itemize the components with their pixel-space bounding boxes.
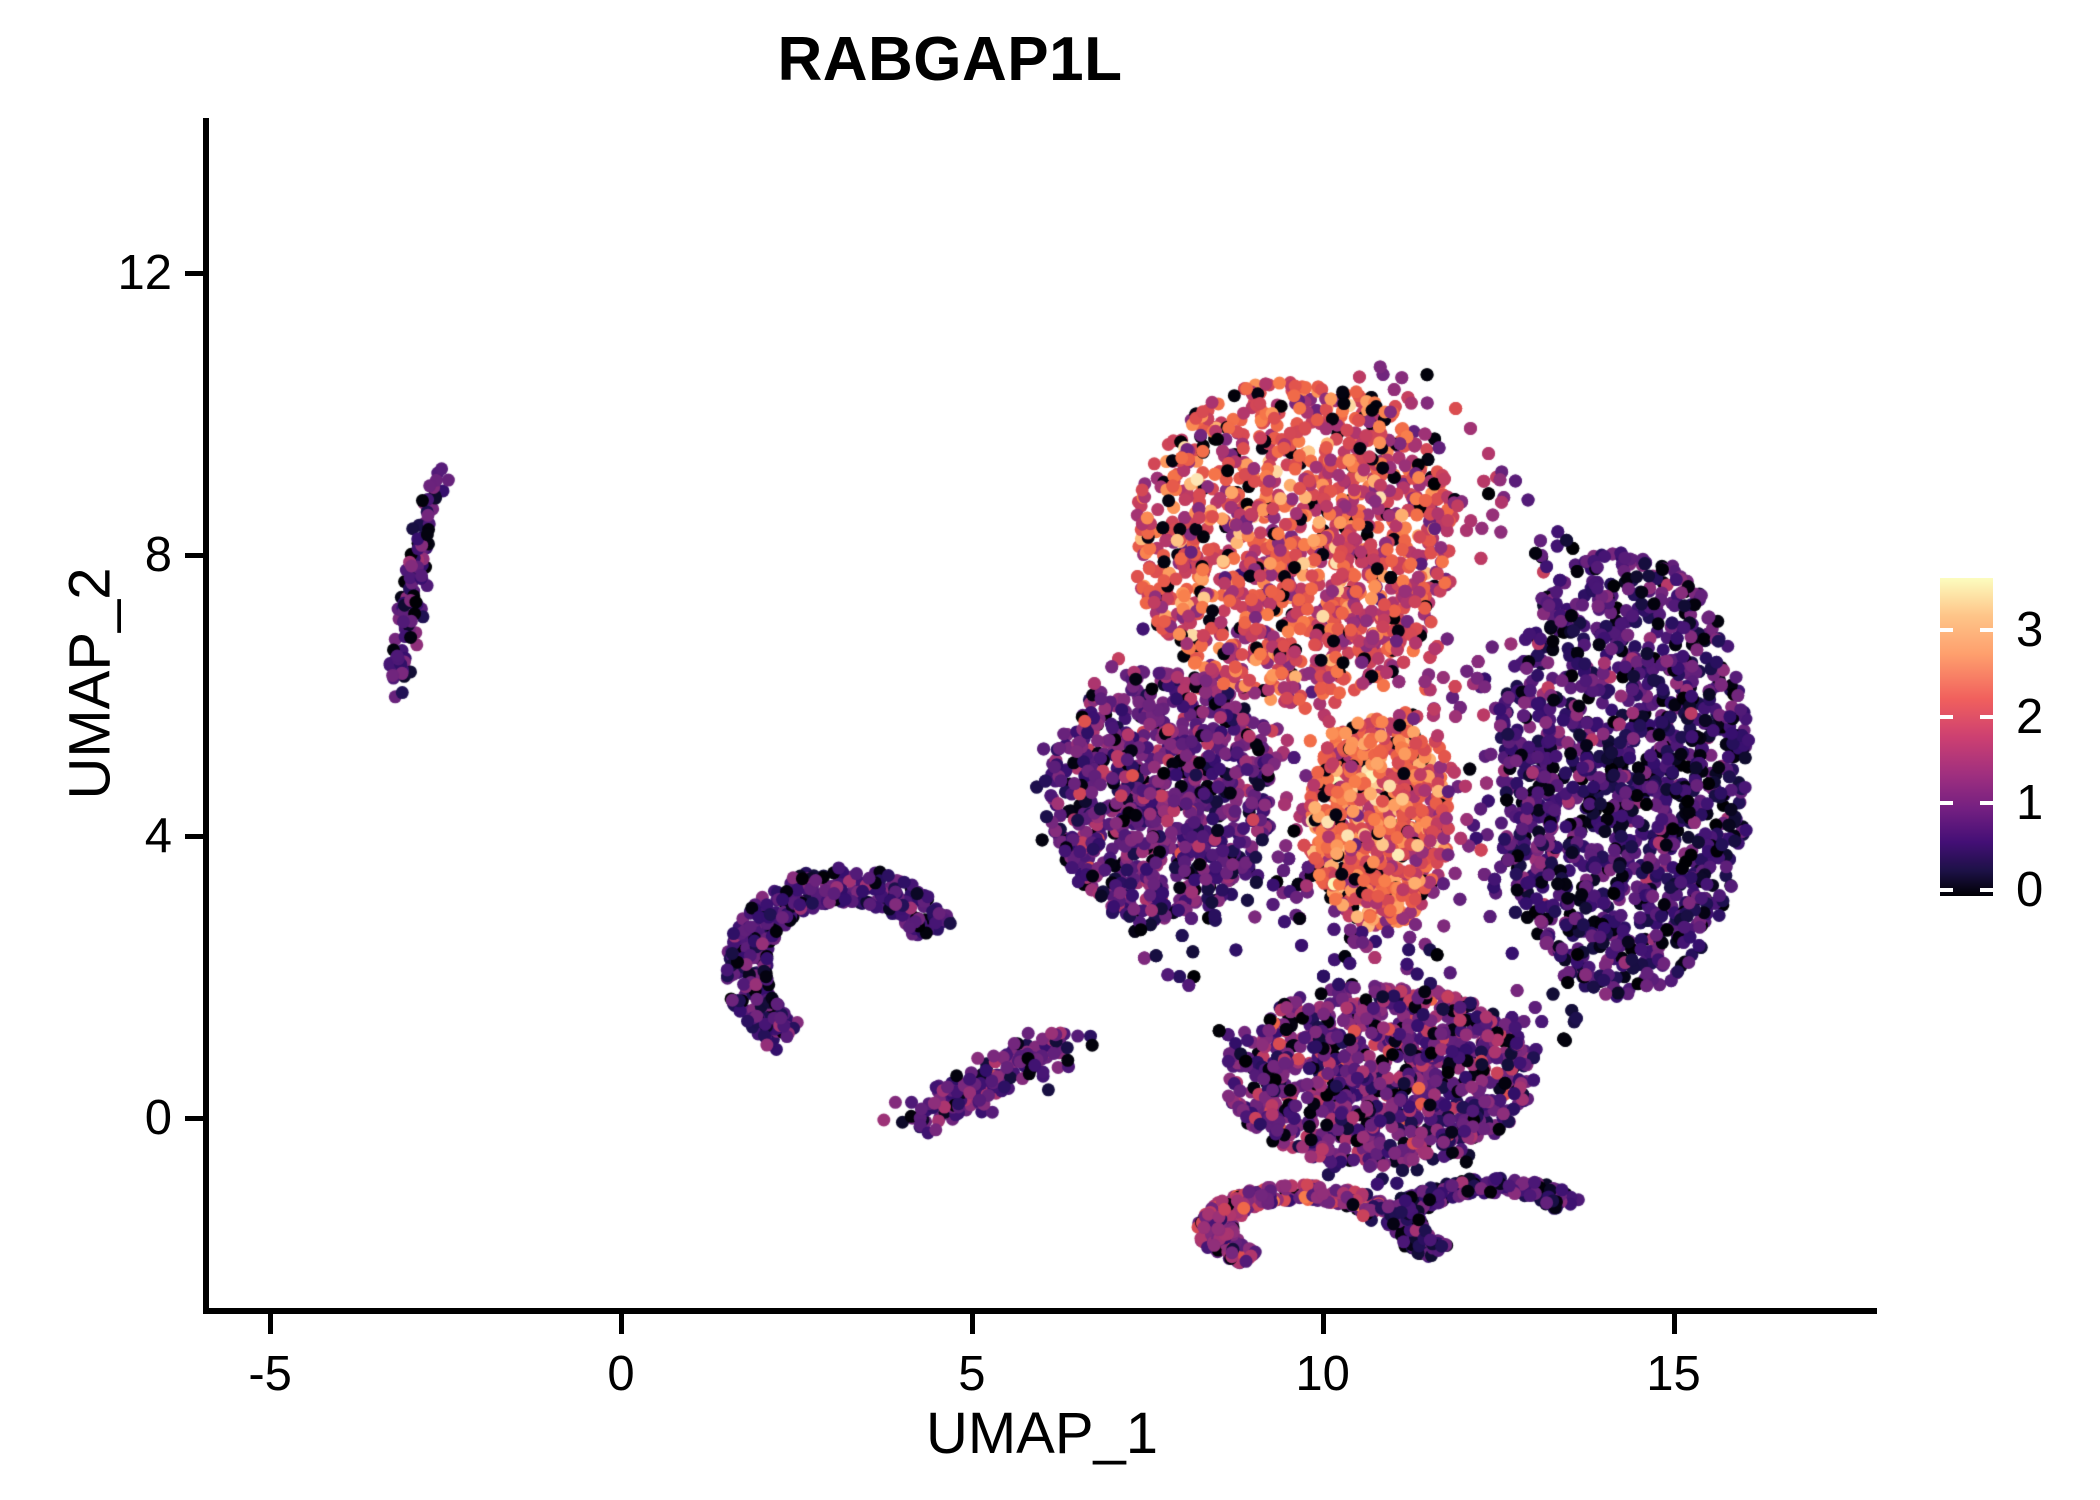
x-tick-label: -5 [248,1346,292,1402]
colorbar-tick-label: 0 [2016,862,2043,918]
x-tick-label: 15 [1646,1346,1701,1402]
colorbar-gradient [1940,578,1993,896]
colorbar-tick-mark [1940,628,1953,632]
colorbar-tick-label: 1 [2016,775,2043,831]
colorbar-tick-mark [1980,628,1993,632]
colorbar-tick-mark [1980,715,1993,719]
scatter-plot-canvas [207,118,1877,1308]
y-axis-line [203,118,209,1313]
y-tick-mark [185,834,205,839]
x-tick-mark [1672,1314,1677,1334]
x-tick-label: 5 [958,1346,985,1402]
x-axis-title: UMAP_1 [207,1400,1877,1467]
colorbar-tick-mark [1980,801,1993,805]
colorbar-tick-label: 3 [2016,602,2043,658]
y-tick-mark [185,553,205,558]
colorbar-tick-mark [1940,801,1953,805]
plot-panel [207,118,1877,1308]
y-tick-mark [185,271,205,276]
colorbar-tick-mark [1980,888,1993,892]
umap-feature-plot: RABGAP1L 12840 -5051015 UMAP_1 UMAP_2 32… [0,0,2100,1500]
x-axis-line [203,1308,1877,1314]
page-title: RABGAP1L [0,24,1900,95]
colorbar-tick-mark [1940,888,1953,892]
x-tick-label: 10 [1295,1346,1350,1402]
x-tick-mark [619,1314,624,1334]
x-tick-label: 0 [607,1346,634,1402]
x-tick-mark [1321,1314,1326,1334]
y-tick-mark [185,1116,205,1121]
x-tick-mark [970,1314,975,1334]
y-axis-title: UMAP_2 [57,184,124,1184]
x-tick-mark [268,1314,273,1334]
colorbar-tick-mark [1940,715,1953,719]
colorbar-tick-label: 2 [2016,689,2043,745]
